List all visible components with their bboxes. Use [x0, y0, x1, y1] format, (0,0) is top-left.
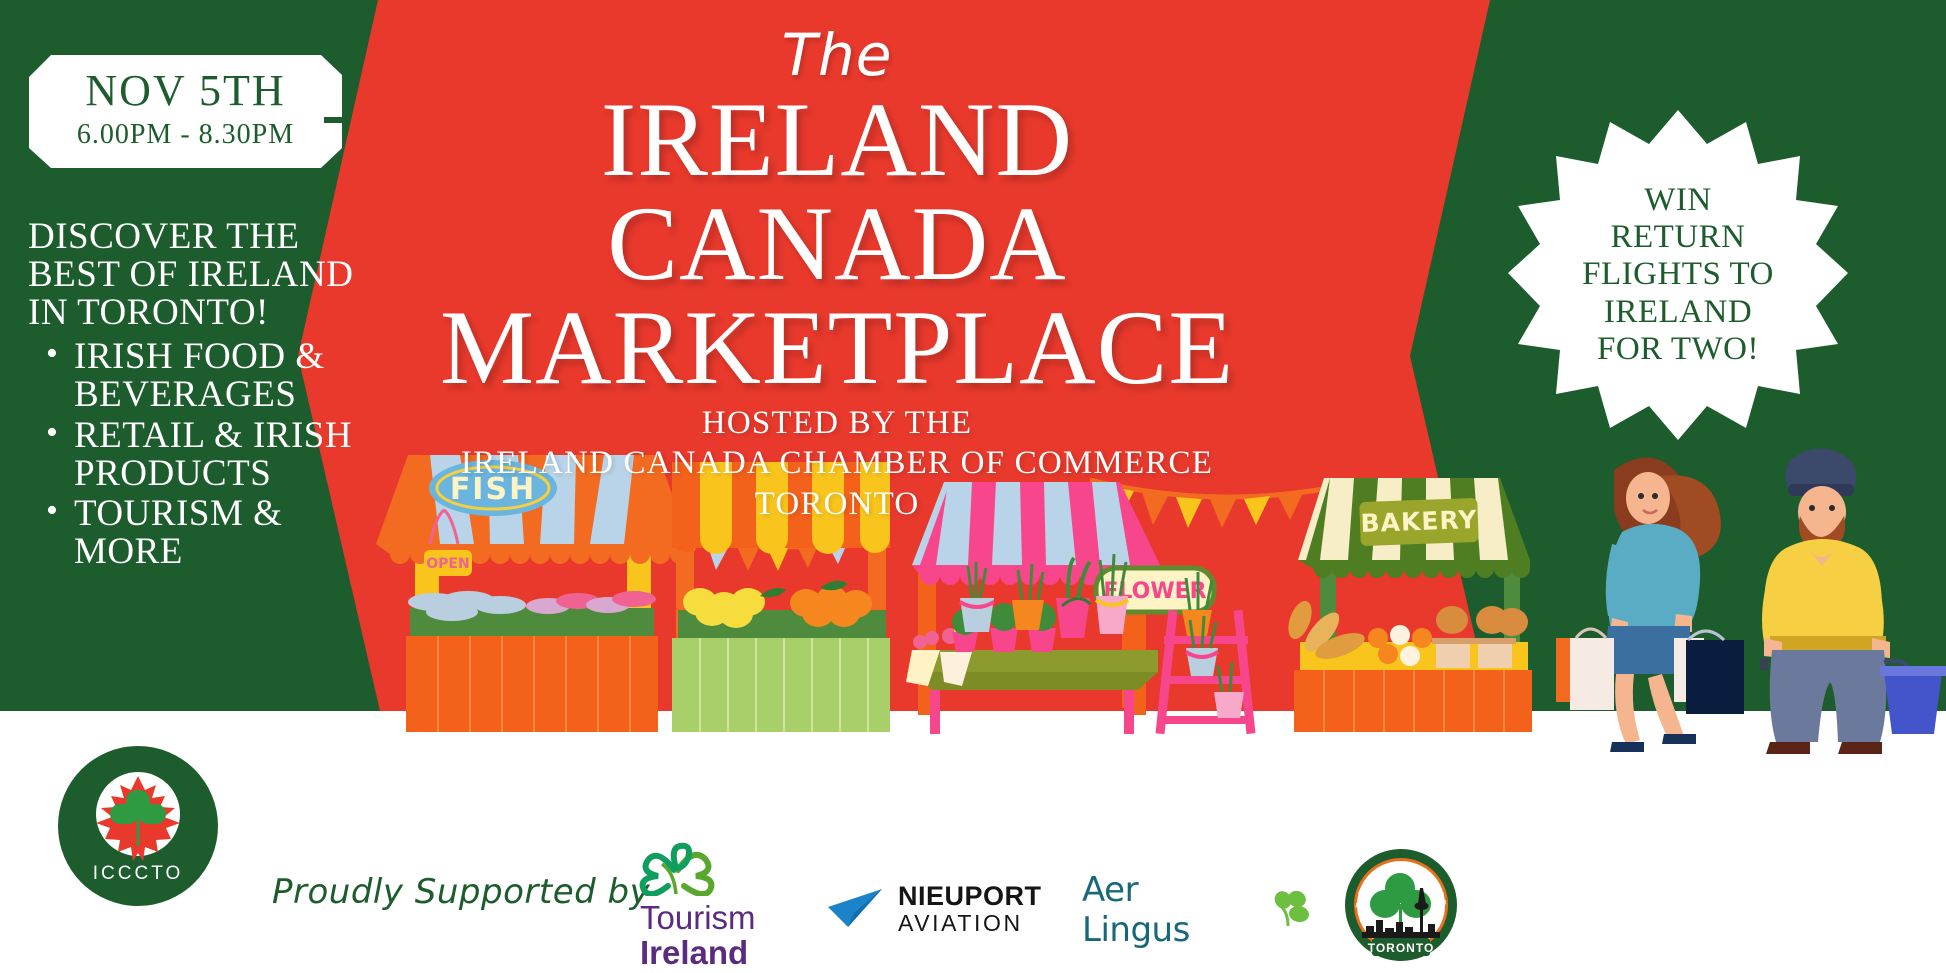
list-item: IRISH FOOD & BEVERAGES — [28, 338, 368, 414]
title-block: The IRELAND CANADA MARKETPLACE — [378, 26, 1296, 400]
starburst-line-3: FLIGHTS TO — [1582, 256, 1774, 293]
lead-line-1: DISCOVER THE — [28, 218, 368, 256]
title-script-the: The — [378, 26, 1296, 84]
tourism-shamrock-icon — [632, 842, 722, 896]
sponsor-tourism-ireland[interactable]: Tourism Ireland — [632, 842, 812, 962]
lead-line-2: BEST OF IRELAND — [28, 256, 368, 294]
hosted-by-line-2: IRELAND CANADA CHAMBER OF COMMERCE TORON… — [378, 443, 1296, 524]
event-poster: FISH OPEN — [0, 0, 1946, 973]
starburst-text: WIN RETURN FLIGHTS TO IRELAND FOR TWO! — [1508, 110, 1848, 440]
aer-lingus-wordmark: Aer Lingus — [1082, 870, 1256, 950]
st-patricks-city-label: TORONTO — [1368, 941, 1435, 955]
paper-plane-icon — [826, 887, 886, 931]
icccto-logo-label: ICCCTO — [93, 863, 183, 884]
page-title-line-1: IRELAND CANADA — [378, 88, 1296, 296]
icccto-logo: ICCCTO — [58, 746, 218, 906]
sponsor-aer-lingus[interactable]: Aer Lingus — [1082, 884, 1312, 936]
date-badge: NOV 5TH 6.00PM - 8.30PM — [29, 55, 342, 168]
sponsor-st-patricks-parade-toronto[interactable]: ST PATRICK'S PARADE TORONTO — [1342, 846, 1460, 964]
shopper-man — [1760, 448, 1946, 754]
nieuport-line-1: NIEUPORT — [898, 882, 1042, 912]
tourism-ireland-line-2: Ireland — [640, 936, 812, 971]
tourism-ireland-line-1: Tourism — [640, 901, 812, 936]
hosted-by-line-1: HOSTED BY THE — [378, 403, 1296, 443]
sponsor-nieuport-aviation[interactable]: NIEUPORT AVIATION — [826, 878, 1076, 940]
starburst-line-4: IRELAND — [1604, 294, 1752, 331]
supported-by-label: Proudly Supported by — [272, 872, 650, 912]
page-title-line-2: MARKETPLACE — [378, 296, 1296, 400]
starburst-line-2: RETURN — [1611, 219, 1746, 256]
shopper-woman — [1556, 457, 1744, 752]
starburst-line-5: FOR TWO! — [1597, 331, 1759, 368]
event-date: NOV 5TH — [85, 69, 285, 113]
list-item: TOURISM & MORE — [28, 495, 368, 571]
nieuport-line-2: AVIATION — [898, 911, 1042, 936]
hosted-by-block: HOSTED BY THE IRELAND CANADA CHAMBER OF … — [378, 403, 1296, 524]
list-item: RETAIL & IRISH PRODUCTS — [28, 417, 368, 493]
aer-lingus-shamrock-icon — [1268, 890, 1312, 930]
bakery-stall: BAKERY — [1284, 478, 1532, 732]
lead-line-3: IN TORONTO! — [28, 294, 368, 332]
bakery-sign-label: BAKERY — [1360, 505, 1478, 538]
prize-starburst-badge: WIN RETURN FLIGHTS TO IRELAND FOR TWO! — [1508, 110, 1848, 440]
event-time: 6.00PM - 8.30PM — [77, 117, 294, 152]
feature-list: IRISH FOOD & BEVERAGES RETAIL & IRISH PR… — [28, 338, 368, 571]
left-copy-block: DISCOVER THE BEST OF IRELAND IN TORONTO!… — [28, 218, 368, 571]
starburst-line-1: WIN — [1644, 182, 1711, 219]
lead-text: DISCOVER THE BEST OF IRELAND IN TORONTO! — [28, 218, 368, 332]
